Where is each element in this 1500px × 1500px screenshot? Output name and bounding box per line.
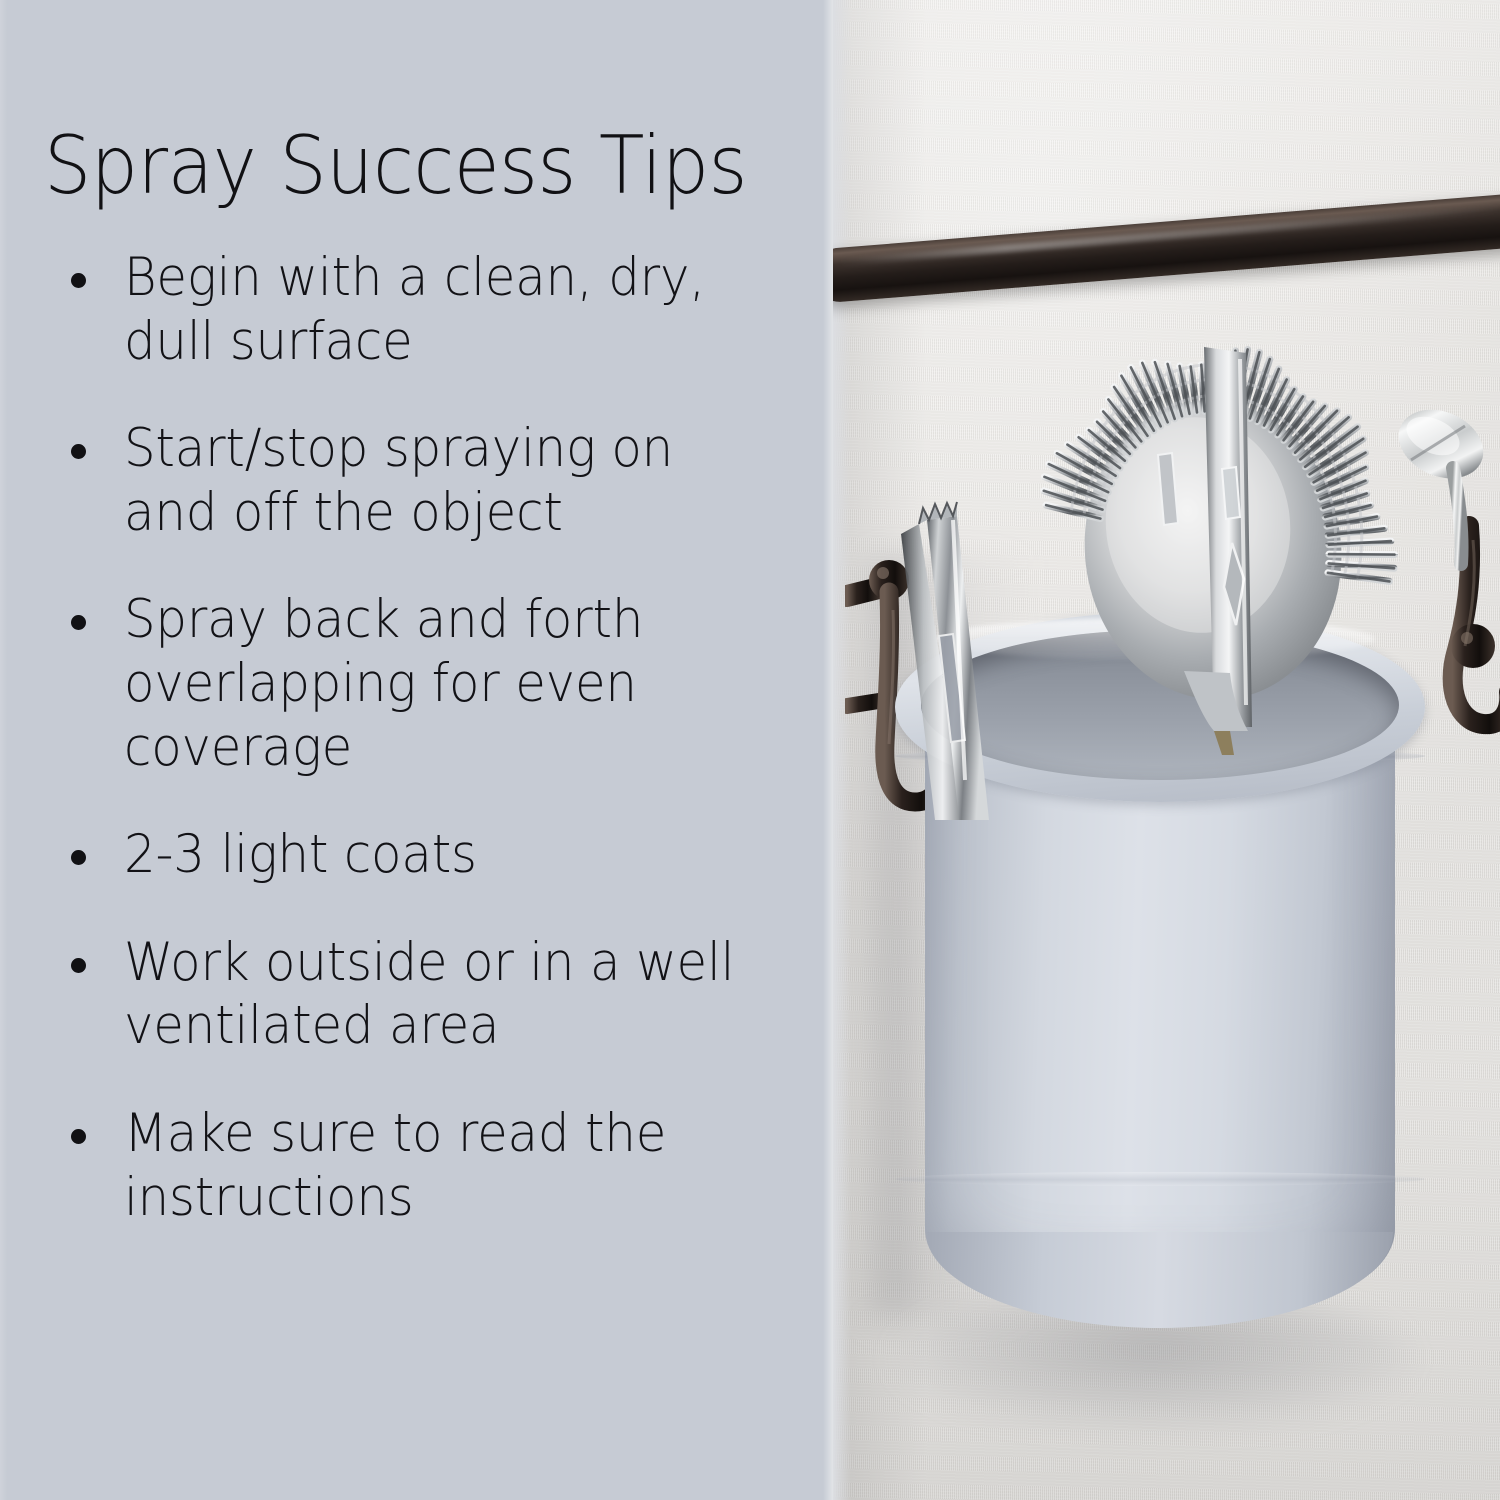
bar-spoon-icon bbox=[1393, 398, 1500, 578]
bullet-dot-icon bbox=[71, 1129, 86, 1144]
product-photo bbox=[833, 0, 1500, 1500]
panel-right-edge bbox=[823, 0, 833, 1500]
tip-item: 2-3 light coats bbox=[56, 823, 796, 887]
tip-item: Work outside or in a well ventilated are… bbox=[56, 931, 796, 1058]
bullet-dot-icon bbox=[71, 273, 86, 288]
page-title: Spray Success Tips bbox=[44, 128, 747, 205]
tip-label: Spray back and forth overlapping for eve… bbox=[124, 588, 756, 779]
bullet-dot-icon bbox=[71, 615, 86, 630]
bullet-dot-icon bbox=[71, 958, 86, 973]
bucket-bottom bbox=[927, 1232, 1393, 1328]
panel-left-edge bbox=[0, 0, 7, 1500]
poster-canvas: Spray Success Tips Begin with a clean, d… bbox=[0, 0, 1500, 1500]
tip-item: Make sure to read the instructions bbox=[56, 1102, 796, 1229]
tip-item: Start/stop spraying on and off the objec… bbox=[56, 417, 796, 544]
tip-label: Make sure to read the instructions bbox=[124, 1102, 756, 1229]
tips-panel: Spray Success Tips Begin with a clean, d… bbox=[0, 0, 833, 1500]
tip-label: Work outside or in a well ventilated are… bbox=[124, 931, 756, 1058]
bullet-dot-icon bbox=[71, 850, 86, 865]
bullet-dot-icon bbox=[71, 444, 86, 459]
cocktail-strainer-icon bbox=[1008, 335, 1438, 765]
tip-label: Begin with a clean, dry, dull surface bbox=[124, 246, 756, 373]
tip-label: Start/stop spraying on and off the objec… bbox=[124, 417, 756, 544]
bucket-rib-3 bbox=[895, 1172, 1425, 1186]
tips-list: Begin with a clean, dry, dull surface St… bbox=[56, 246, 796, 1273]
tip-item: Begin with a clean, dry, dull surface bbox=[56, 246, 796, 373]
tip-item: Spray back and forth overlapping for eve… bbox=[56, 588, 796, 779]
tip-label: 2-3 light coats bbox=[124, 823, 756, 887]
